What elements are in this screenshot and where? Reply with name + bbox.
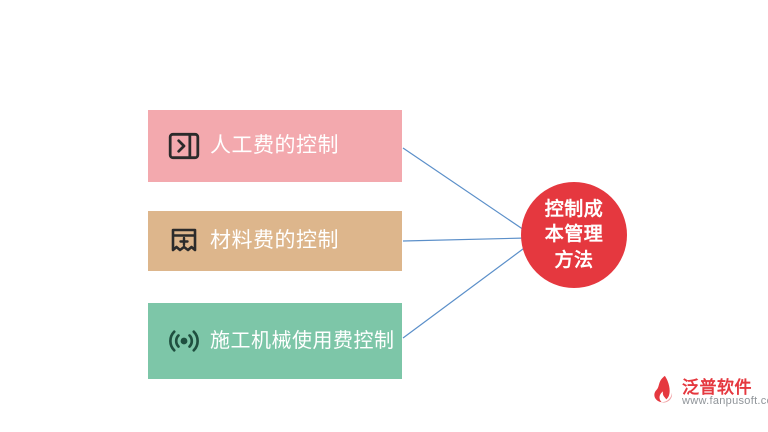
connector-labor — [403, 148, 527, 232]
connector-machine — [403, 246, 527, 338]
signal-waves-icon — [158, 324, 210, 358]
node-labor-label: 人工费的控制 — [210, 133, 402, 160]
connector-material — [403, 238, 527, 241]
node-material[interactable]: 材料费的控制 — [148, 211, 402, 271]
node-labor[interactable]: 人工费的控制 — [148, 110, 402, 182]
node-machine[interactable]: 施工机械使用费控制 — [148, 303, 402, 379]
node-material-label: 材料费的控制 — [210, 228, 402, 255]
center-node-label: 控制成本管理方法 — [541, 197, 607, 272]
center-node[interactable]: 控制成本管理方法 — [521, 182, 627, 288]
panel-right-icon — [158, 129, 210, 163]
flame-icon — [648, 374, 678, 404]
receipt-plus-icon — [158, 225, 210, 257]
node-machine-label: 施工机械使用费控制 — [210, 328, 402, 354]
logo-url: www.fanpusoft.com — [682, 395, 768, 407]
diagram-canvas: 人工费的控制 材料费的控制 施工机械使用费控制 控制成本管 — [0, 0, 768, 432]
brand-logo: 泛普软件 www.fanpusoft.com — [648, 372, 758, 418]
